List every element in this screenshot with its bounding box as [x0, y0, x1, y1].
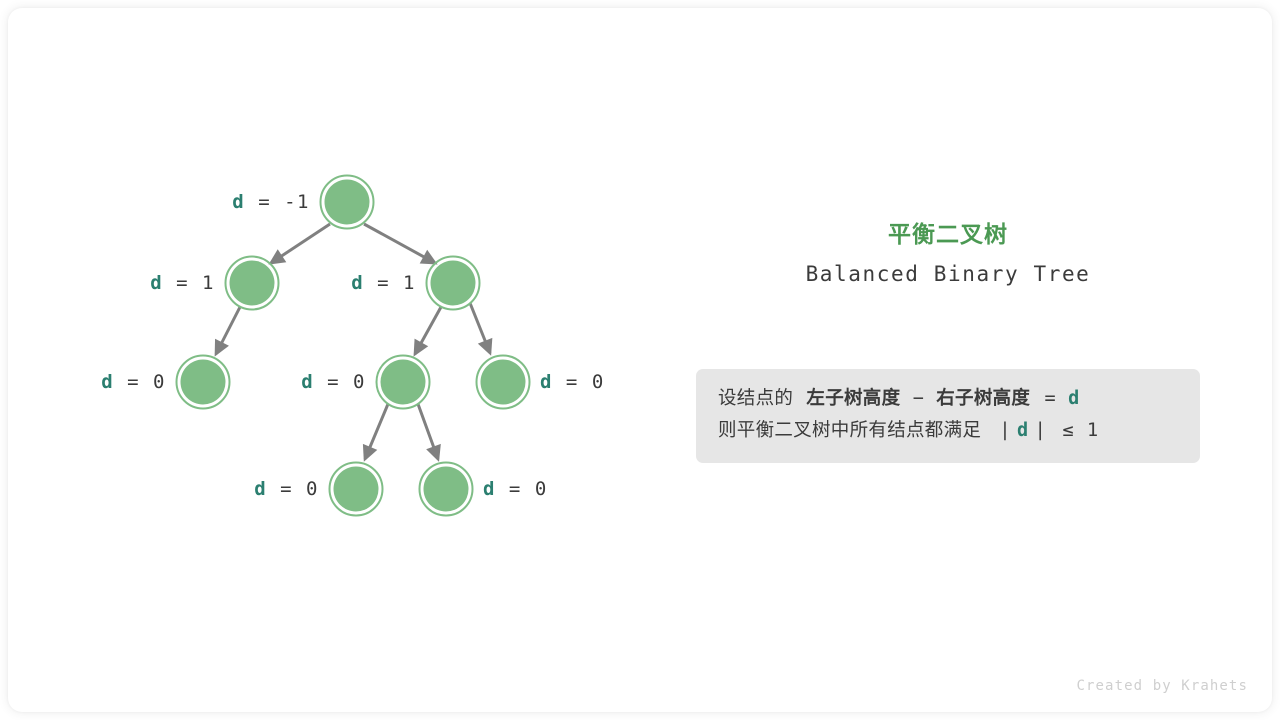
node-label-root-eq: = [258, 191, 271, 213]
panel-title: 平衡二叉树 [696, 222, 1200, 250]
node-label-left-eq: = [176, 272, 189, 294]
panel-subtitle: Balanced Binary Tree [696, 262, 1200, 287]
edge-left-leftchild [216, 307, 240, 354]
node-label-right-left: d = 0 [301, 373, 366, 392]
node-label-root-var: d [232, 191, 245, 213]
abs-bar-open: | [999, 420, 1010, 441]
definition-variable-d-abs: d [1017, 420, 1028, 441]
definition-equals-sign: = [1044, 388, 1055, 409]
node-label-left-left-var: d [101, 371, 114, 393]
tree-nodes [177, 176, 530, 516]
node-label-right: d = 1 [351, 274, 416, 293]
tree-node-rl-right[interactable] [420, 463, 473, 516]
node-label-right-left-value: 0 [353, 371, 366, 393]
node-label-right-right-eq: = [566, 371, 579, 393]
node-label-left: d = 1 [150, 274, 215, 293]
node-label-left-left: d = 0 [101, 373, 166, 392]
node-label-right-eq: = [377, 272, 390, 294]
binary-tree-graphic [0, 0, 1280, 720]
tree-node-right-right[interactable] [477, 356, 530, 409]
node-label-left-left-eq: = [127, 371, 140, 393]
node-label-left-value: 1 [202, 272, 215, 294]
node-label-rl-left-value: 0 [306, 478, 319, 500]
node-label-rl-right: d = 0 [483, 480, 548, 499]
definition-bound-value: 1 [1087, 420, 1098, 441]
node-label-root-value: -1 [284, 191, 310, 213]
node-label-right-right: d = 0 [540, 373, 605, 392]
edge-right-leftchild [415, 307, 441, 354]
node-label-left-left-value: 0 [153, 371, 166, 393]
node-label-rl-left-eq: = [280, 478, 293, 500]
tree-edges [216, 224, 490, 459]
definition-variable-d: d [1068, 388, 1079, 409]
definition-comparator: ≤ [1062, 420, 1073, 441]
definition-term-left-subtree-height: 左子树高度 [806, 388, 900, 409]
edge-rl-rightchild [418, 404, 438, 459]
edge-root-right [364, 224, 435, 263]
node-label-root: d = -1 [232, 193, 310, 212]
definition-term-right-subtree-height: 右子树高度 [936, 388, 1030, 409]
node-label-rl-right-eq: = [509, 478, 522, 500]
tree-node-right[interactable] [427, 257, 480, 310]
definition-line-2: 则平衡二叉树中所有结点都满足 | d | ≤ 1 [718, 415, 1178, 447]
node-label-right-left-eq: = [327, 371, 340, 393]
tree-node-left[interactable] [226, 257, 279, 310]
node-label-rl-left: d = 0 [254, 480, 319, 499]
definition-prefix-2: 则平衡二叉树中所有结点都满足 [718, 420, 981, 441]
node-label-left-var: d [150, 272, 163, 294]
definition-box: 设结点的 左子树高度 − 右子树高度 = d 则平衡二叉树中所有结点都满足 | … [696, 369, 1200, 463]
tree-node-rl-left[interactable] [330, 463, 383, 516]
abs-bar-close: | [1035, 420, 1046, 441]
node-label-rl-right-var: d [483, 478, 496, 500]
diagram-canvas: d = -1 d = 1 d = 1 d = 0 d = 0 d = 0 d =… [0, 0, 1280, 720]
tree-node-right-left[interactable] [377, 356, 430, 409]
definition-line-1: 设结点的 左子树高度 − 右子树高度 = d [718, 383, 1178, 415]
node-label-right-right-var: d [540, 371, 553, 393]
node-label-rl-right-value: 0 [535, 478, 548, 500]
tree-node-left-left[interactable] [177, 356, 230, 409]
definition-prefix-1: 设结点的 [718, 388, 793, 409]
node-label-rl-left-var: d [254, 478, 267, 500]
info-panel: 平衡二叉树 Balanced Binary Tree [696, 222, 1200, 287]
node-label-right-right-value: 0 [592, 371, 605, 393]
edge-rl-leftchild [365, 404, 388, 459]
watermark-credit: Created by Krahets [1076, 678, 1248, 694]
definition-minus-operator: − [913, 388, 924, 409]
node-label-right-left-var: d [301, 371, 314, 393]
edge-right-rightchild [470, 303, 490, 353]
node-label-right-value: 1 [403, 272, 416, 294]
node-label-right-var: d [351, 272, 364, 294]
edge-root-left [271, 224, 330, 263]
tree-node-root[interactable] [321, 176, 374, 229]
